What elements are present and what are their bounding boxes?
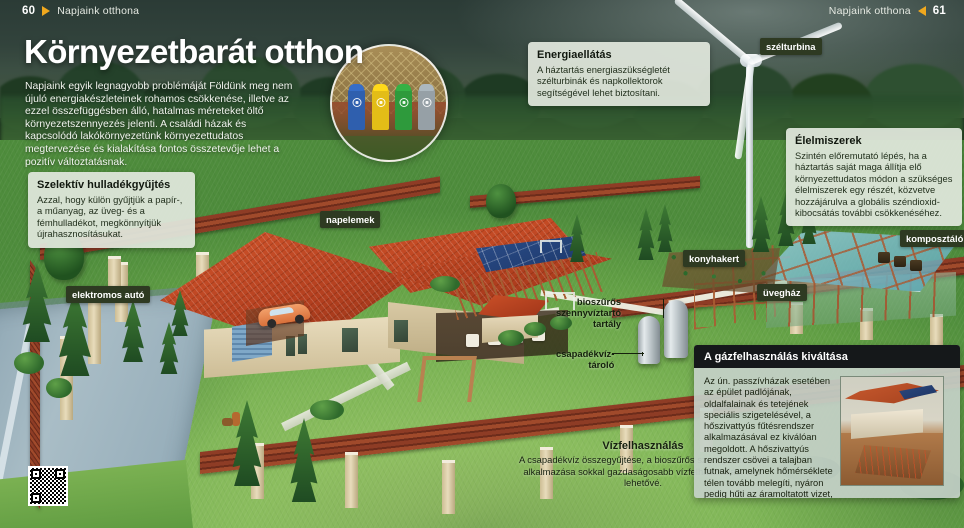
label-line-1: bioszűrős (556, 296, 621, 307)
yellow-bin (372, 88, 389, 130)
page-title: Környezetbarát otthon (24, 33, 363, 71)
gasbox-body: Az ún. passzívházak esetében az épület p… (694, 368, 960, 498)
section-label-left: Napjaink otthona (57, 5, 139, 17)
intro-paragraph: Napjaink egyik legnagyobb problémáját Fö… (25, 81, 295, 169)
leader-line (642, 352, 643, 356)
gasbox-text: Az ún. passzívházak esetében az épület p… (704, 376, 834, 498)
heat-pump-trench (855, 445, 931, 479)
tag-elektromos-auto: elektromos autó (66, 286, 150, 303)
green-bin (395, 88, 412, 130)
tag-napelemek: napelemek (320, 211, 380, 228)
dog-figure (222, 418, 233, 426)
panel-heading: Élelmiszerek (795, 135, 953, 147)
panel-gas-replacement: A gázfelhasználás kiváltása Az ún. passz… (694, 345, 960, 498)
bush (310, 400, 344, 420)
recycle-icon (376, 98, 385, 107)
bush (498, 330, 524, 346)
qr-finder-icon (31, 469, 41, 479)
fence-pillar (442, 460, 455, 514)
label-line-3: tartály (556, 318, 621, 329)
panel-body: Szintén előremutató lépés, ha a háztartá… (795, 150, 953, 218)
qr-code[interactable] (28, 466, 68, 506)
qr-finder-icon (31, 493, 41, 503)
recycle-icon (422, 98, 431, 107)
car-window (269, 307, 294, 317)
passive-house-cutaway-image (840, 376, 944, 486)
bush (46, 378, 72, 398)
fence-pillar (88, 292, 101, 364)
compost-bin (894, 256, 906, 267)
tag-konyhakert: konyhakert (683, 250, 745, 267)
triangle-left-icon (918, 6, 926, 16)
label-rainwater-tank: csapadékvíz- tároló (556, 348, 614, 370)
panel-body: A háztartás energiaszükségletét szélturb… (537, 64, 701, 98)
magazine-spread: 60 Napjaink otthona Napjaink otthona 61 … (0, 0, 964, 528)
bush (14, 352, 44, 374)
recycle-icon (399, 98, 408, 107)
blue-bin (348, 88, 365, 130)
label-biofilter-tank: bioszűrős szennyvíztartó tartály (556, 296, 621, 329)
window (394, 320, 408, 342)
window (342, 328, 358, 352)
person-figure (232, 412, 240, 426)
football-goal (540, 240, 562, 253)
panel-heading: Szelektív hulladékgyűjtés (37, 179, 186, 191)
triangle-right-icon (42, 6, 50, 16)
recycle-icon (352, 98, 361, 107)
page-number-left: 60 (22, 5, 35, 17)
section-label-right: Napjaink otthona (829, 5, 911, 17)
leader-line (663, 299, 664, 318)
bush (430, 276, 460, 292)
rainwater-tank (638, 316, 660, 364)
label-line-2: tároló (556, 359, 614, 370)
panel-body: Azzal, hogy külön gyűjtjük a papír-, a m… (37, 194, 186, 240)
label-line-1: csapadékvíz- (556, 348, 614, 359)
panel-food: Élelmiszerek Szintén előremutató lépés, … (786, 128, 962, 226)
label-line-2: szennyvíztartó (556, 307, 621, 318)
tag-uveghaz: üvegház (757, 284, 807, 301)
heat-pump-pipes (855, 445, 931, 479)
tag-szelturbina: szélturbina (760, 38, 822, 55)
compost-bin (910, 260, 922, 271)
swing-frame (417, 356, 477, 402)
window (298, 334, 307, 354)
gasbox-heading: A gázfelhasználás kiváltása (694, 345, 960, 368)
header-right: Napjaink otthona 61 (829, 5, 946, 17)
panel-heading: Energiaellátás (537, 49, 701, 61)
broadleaf-tree (486, 184, 516, 218)
page-number-right: 61 (933, 5, 946, 17)
compost-bin (878, 252, 890, 263)
panel-energy-supply: Energiaellátás A háztartás energiaszüksé… (528, 42, 710, 106)
qr-finder-icon (55, 469, 65, 479)
window (286, 336, 295, 356)
fence-pillar (345, 452, 358, 508)
panel-selective-waste: Szelektív hulladékgyűjtés Azzal, hogy kü… (28, 172, 195, 248)
header-left: 60 Napjaink otthona (22, 5, 139, 17)
biofilter-sewage-tank (664, 300, 688, 358)
tag-komposztalo: komposztáló (900, 230, 964, 247)
leader-line (612, 353, 644, 354)
bush (524, 322, 546, 336)
grey-bin (418, 88, 435, 130)
